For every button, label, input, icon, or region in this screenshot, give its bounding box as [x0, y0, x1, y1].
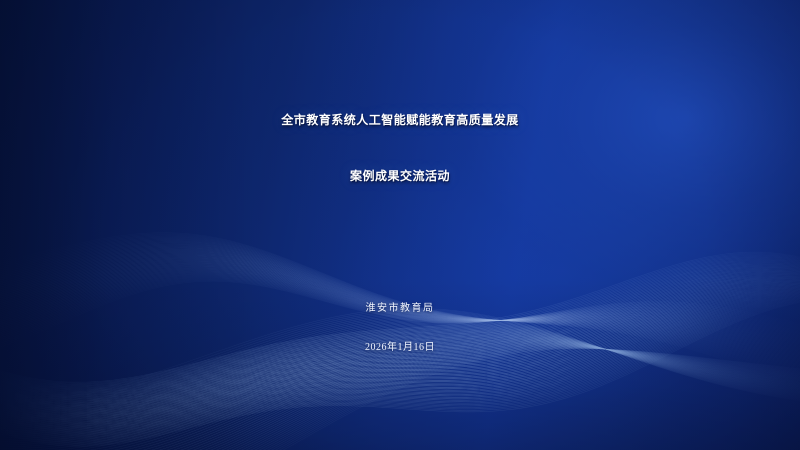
title-line-1: 全市教育系统人工智能赋能教育高质量发展	[0, 92, 800, 148]
title-line-2: 案例成果交流活动	[0, 148, 800, 204]
event-date: 2026年1月16日	[0, 332, 800, 364]
slide-subtitle: 淮安市教育局 2026年1月16日	[0, 292, 800, 364]
slide-text-content: 全市教育系统人工智能赋能教育高质量发展 案例成果交流活动 淮安市教育局 2026…	[0, 0, 800, 450]
slide-title: 全市教育系统人工智能赋能教育高质量发展 案例成果交流活动	[0, 92, 800, 204]
organization-name: 淮安市教育局	[0, 292, 800, 326]
title-slide: 全市教育系统人工智能赋能教育高质量发展 案例成果交流活动 淮安市教育局 2026…	[0, 0, 800, 450]
